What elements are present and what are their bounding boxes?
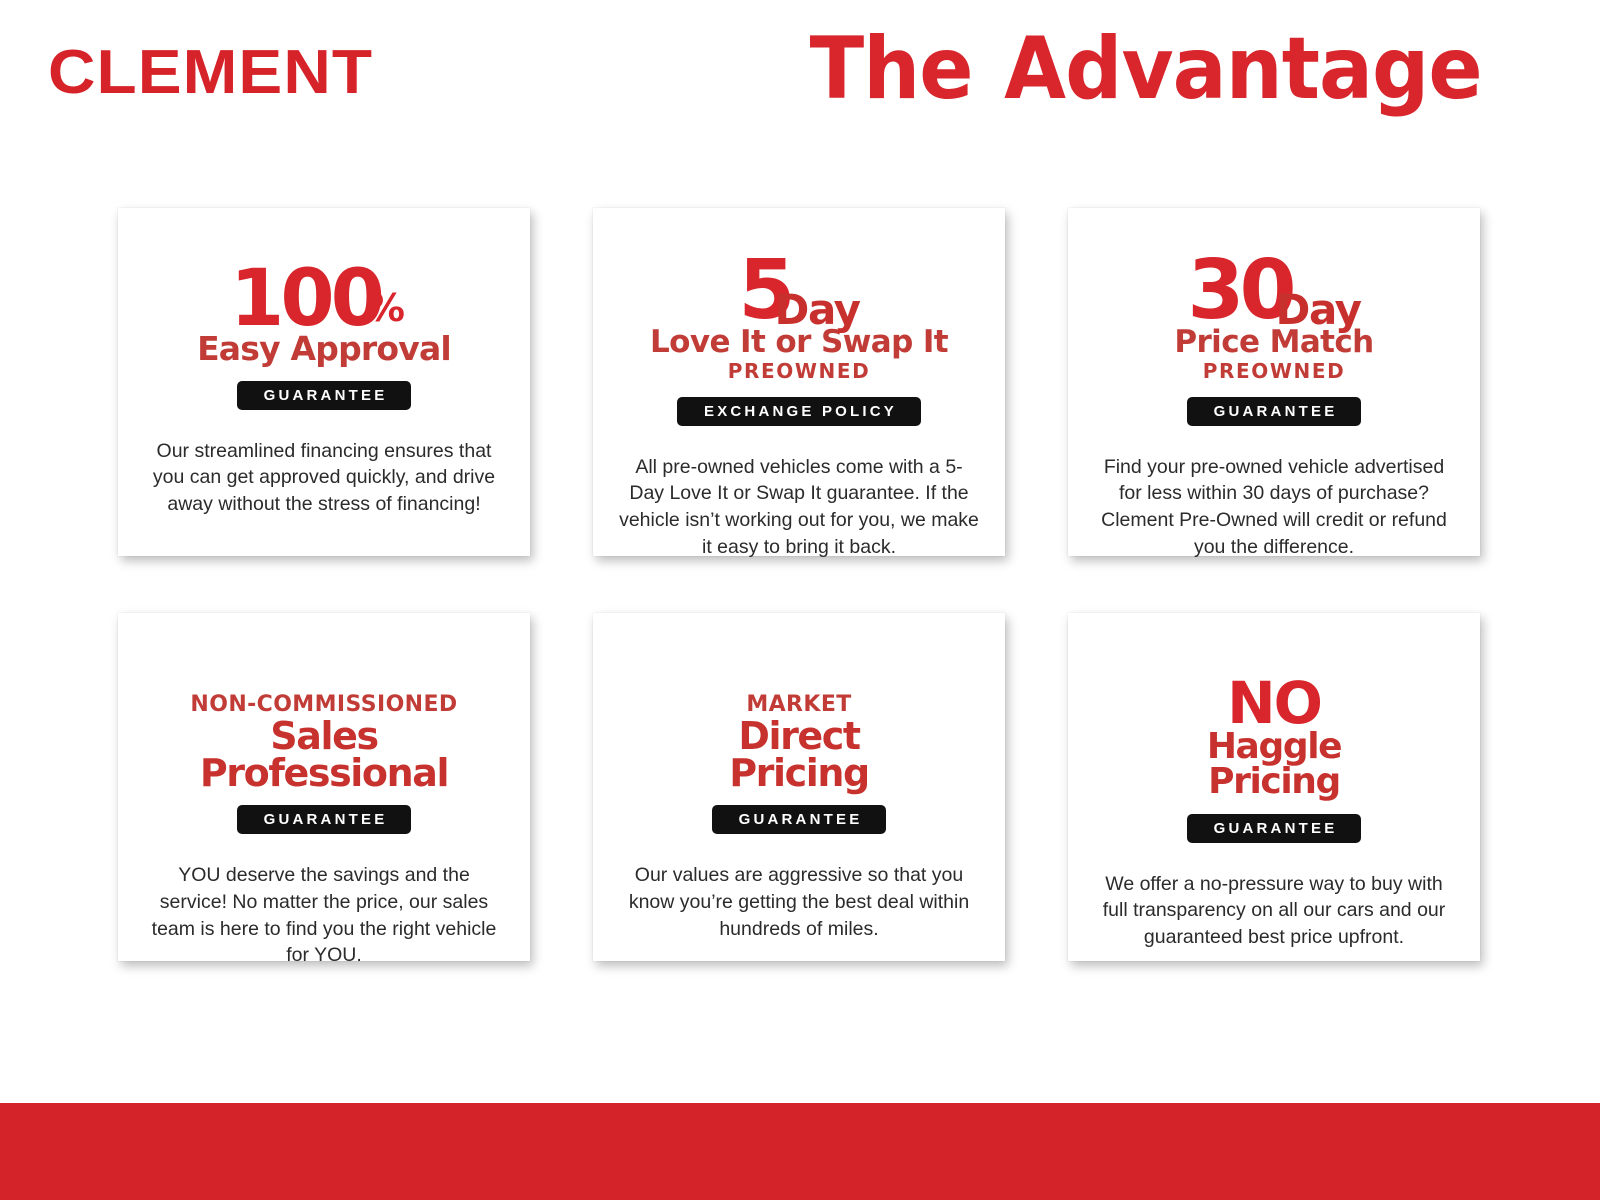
headline-professional: Professional [200, 755, 448, 791]
status-badge: GUARANTEE [237, 381, 412, 410]
page-title-word-advantage: Advantage [1004, 19, 1482, 119]
card-market-direct-pricing[interactable]: MARKET Direct Pricing GUARANTEE Our valu… [593, 613, 1005, 961]
card-body-text: YOU deserve the savings and the service!… [144, 862, 504, 969]
headline-pricing: Pricing [729, 755, 869, 791]
card-headline: 30Day Price Match PREOWNED [1094, 226, 1454, 383]
card-price-match[interactable]: 30Day Price Match PREOWNED GUARANTEE Fin… [1068, 208, 1480, 556]
headline-100-percent: 100% [230, 262, 418, 336]
headline-haggle: Haggle [1207, 730, 1341, 764]
headline-day-label: Day [1276, 289, 1361, 331]
headline-no: NO [1227, 677, 1321, 729]
percent-symbol: % [367, 290, 404, 326]
card-love-it-or-swap-it[interactable]: 5Day Love It or Swap It PREOWNED EXCHANG… [593, 208, 1005, 556]
card-headline: 100% Easy Approval [144, 226, 504, 367]
status-badge: GUARANTEE [237, 805, 412, 834]
card-easy-approval[interactable]: 100% Easy Approval GUARANTEE Our streaml… [118, 208, 530, 556]
clement-logo: CLEMENT [48, 42, 373, 104]
headline-30-day: 30Day [1187, 250, 1360, 332]
headline-preowned: PREOWNED [728, 359, 871, 383]
card-non-commissioned-sales[interactable]: NON-COMMISSIONED Sales Professional GUAR… [118, 613, 530, 961]
page-header: CLEMENT TheAdvantage [0, 0, 1600, 175]
page-title-word-the: The [810, 19, 973, 119]
headline-number: 100 [230, 254, 381, 344]
headline-direct: Direct [738, 718, 859, 754]
card-headline: NO Haggle Pricing [1094, 631, 1454, 800]
status-badge: EXCHANGE POLICY [677, 397, 921, 426]
status-badge: GUARANTEE [1187, 397, 1362, 426]
card-headline: 5Day Love It or Swap It PREOWNED [619, 226, 979, 383]
card-body-text: We offer a no-pressure way to buy with f… [1094, 871, 1454, 951]
headline-preowned: PREOWNED [1203, 359, 1346, 383]
footer-accent-bar [0, 1103, 1600, 1200]
headline-sales: Sales [270, 718, 377, 754]
status-badge: GUARANTEE [712, 805, 887, 834]
headline-5-day: 5Day [738, 250, 859, 332]
headline-pricing: Pricing [1208, 765, 1340, 799]
card-no-haggle-pricing[interactable]: NO Haggle Pricing GUARANTEE We offer a n… [1068, 613, 1480, 961]
card-headline: MARKET Direct Pricing [619, 631, 979, 791]
headline-day-label: Day [774, 289, 859, 331]
card-body-text: Find your pre-owned vehicle advertised f… [1094, 454, 1454, 561]
card-headline: NON-COMMISSIONED Sales Professional [144, 631, 504, 791]
card-body-text: Our values are aggressive so that you kn… [619, 862, 979, 942]
card-body-text: Our streamlined financing ensures that y… [144, 438, 504, 518]
status-badge: GUARANTEE [1187, 814, 1362, 843]
page-title: TheAdvantage [810, 22, 1482, 117]
card-body-text: All pre-owned vehicles come with a 5-Day… [619, 454, 979, 561]
advantage-cards-grid: 100% Easy Approval GUARANTEE Our streaml… [118, 208, 1504, 961]
